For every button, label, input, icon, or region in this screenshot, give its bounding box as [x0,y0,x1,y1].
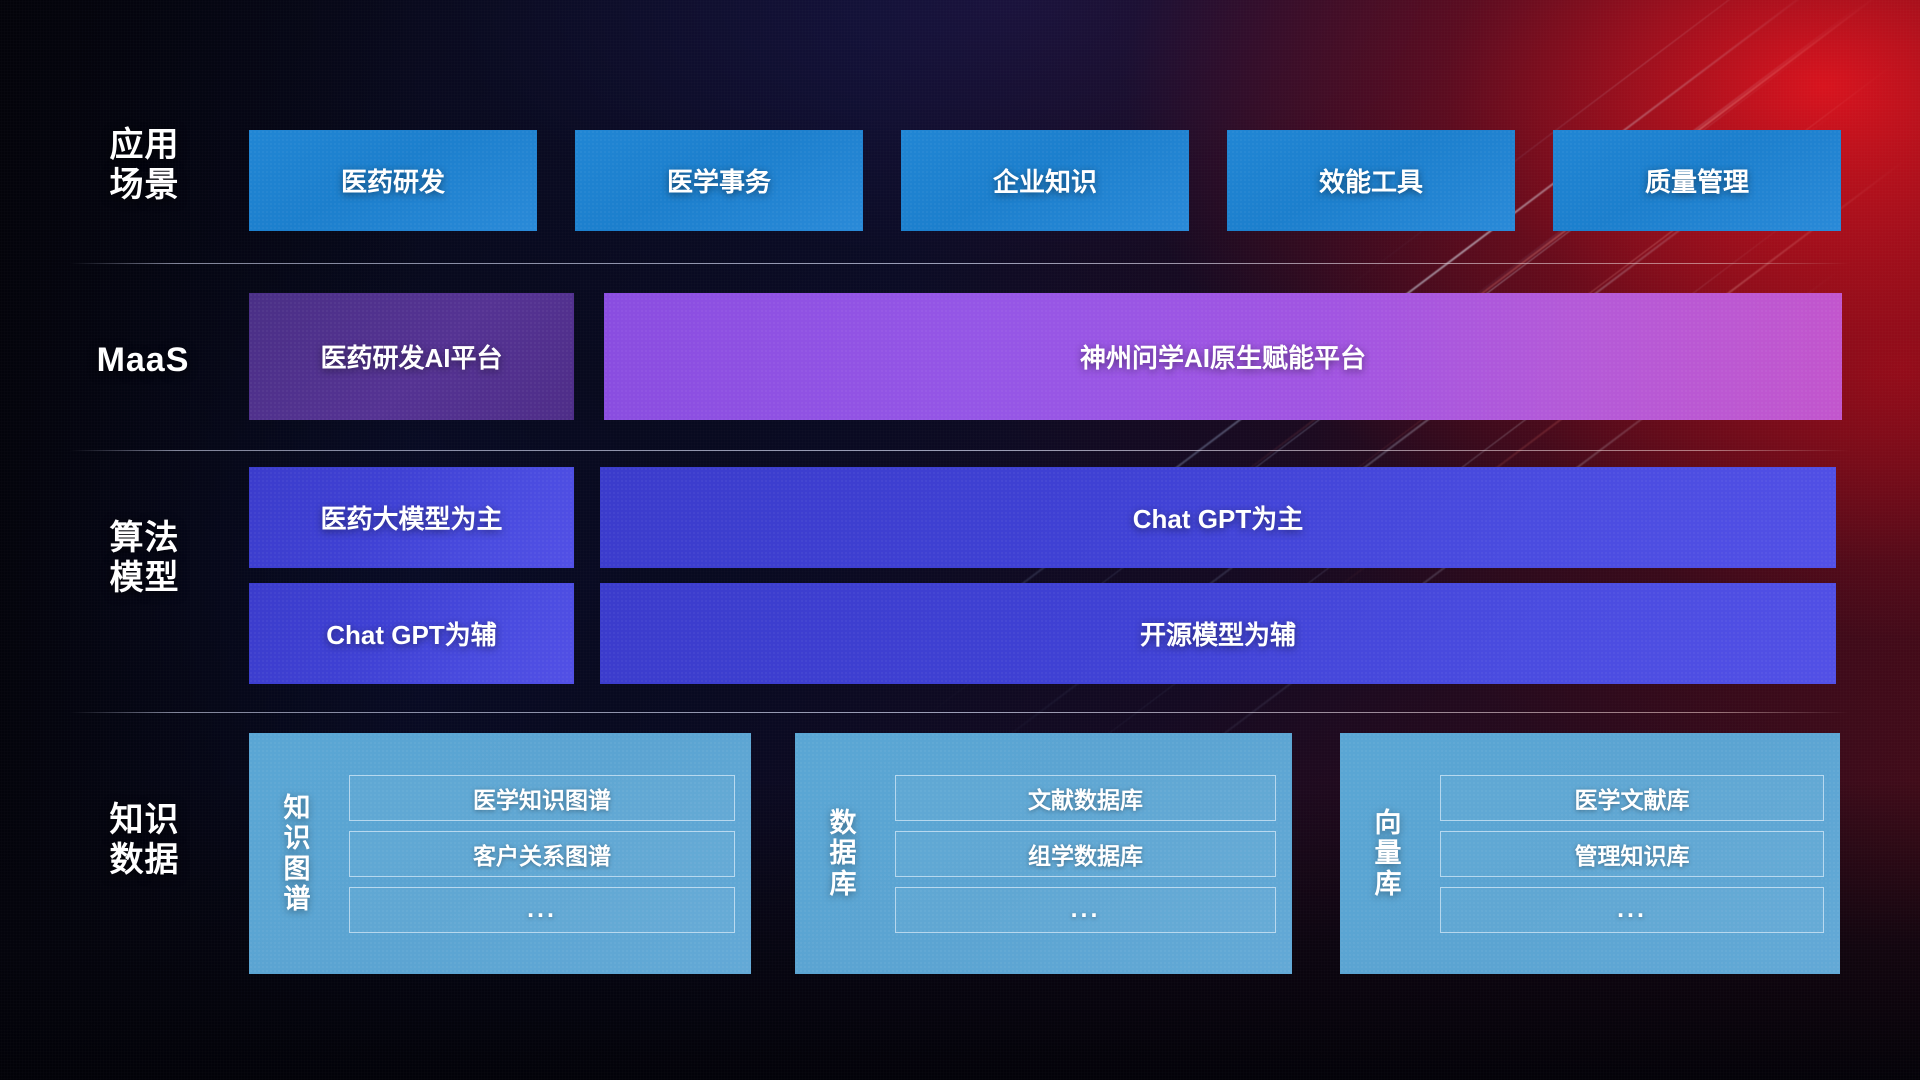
divider-algorithm-knowledge [70,712,1850,713]
row-label-application: 应用 场景 [82,125,207,205]
app-box-label: 效能工具 [1319,162,1423,199]
knowledge-group-title: 向 量 库 [1340,733,1436,974]
knowledge-item-more[interactable]: ... [349,887,735,933]
knowledge-group-database[interactable]: 数 据 库 文献数据库 组学数据库 ... [795,733,1292,974]
knowledge-item[interactable]: 医学知识图谱 [349,775,735,821]
app-box-label: 质量管理 [1645,162,1749,199]
row-label-maas: MaaS [78,340,208,380]
row-label-algorithm: 算法 模型 [82,518,207,598]
app-box-label: 企业知识 [993,162,1097,199]
algo-box-open-source-secondary[interactable]: 开源模型为辅 [600,583,1836,684]
divider-maas-algorithm [70,450,1850,451]
knowledge-item-more[interactable]: ... [1440,887,1824,933]
app-box-label: 医学事务 [667,162,771,199]
app-box-label: 医药研发 [341,162,445,199]
maas-box-label: 神州问学AI原生赋能平台 [1080,338,1366,375]
app-box-quality-management[interactable]: 质量管理 [1553,130,1841,231]
algo-box-label: 开源模型为辅 [1140,615,1296,652]
app-box-enterprise-knowledge[interactable]: 企业知识 [901,130,1189,231]
knowledge-item[interactable]: 文献数据库 [895,775,1276,821]
row-label-knowledge: 知识 数据 [82,800,207,880]
knowledge-group-items: 医学文献库 管理知识库 ... [1436,733,1840,974]
knowledge-item[interactable]: 组学数据库 [895,831,1276,877]
knowledge-group-title: 知 识 图 谱 [249,733,345,974]
knowledge-item-more[interactable]: ... [895,887,1276,933]
knowledge-group-vector-store[interactable]: 向 量 库 医学文献库 管理知识库 ... [1340,733,1840,974]
maas-box-shenzhou-wenxue-platform[interactable]: 神州问学AI原生赋能平台 [604,293,1842,420]
algo-box-pharma-large-model-primary[interactable]: 医药大模型为主 [249,467,574,568]
knowledge-item[interactable]: 医学文献库 [1440,775,1824,821]
knowledge-item[interactable]: 管理知识库 [1440,831,1824,877]
algo-box-label: Chat GPT为主 [1133,499,1303,536]
divider-application-maas [70,263,1850,264]
knowledge-group-items: 医学知识图谱 客户关系图谱 ... [345,733,751,974]
app-box-pharma-rd[interactable]: 医药研发 [249,130,537,231]
knowledge-group-knowledge-graph[interactable]: 知 识 图 谱 医学知识图谱 客户关系图谱 ... [249,733,751,974]
algo-box-label: 医药大模型为主 [320,499,502,536]
app-box-efficiency-tools[interactable]: 效能工具 [1227,130,1515,231]
algo-box-chatgpt-primary[interactable]: Chat GPT为主 [600,467,1836,568]
algo-box-label: Chat GPT为辅 [326,615,496,652]
knowledge-group-items: 文献数据库 组学数据库 ... [891,733,1292,974]
knowledge-item[interactable]: 客户关系图谱 [349,831,735,877]
knowledge-group-title: 数 据 库 [795,733,891,974]
algo-box-chatgpt-secondary[interactable]: Chat GPT为辅 [249,583,574,684]
app-box-medical-affairs[interactable]: 医学事务 [575,130,863,231]
maas-box-pharma-ai-platform[interactable]: 医药研发AI平台 [249,293,574,420]
maas-box-label: 医药研发AI平台 [320,338,502,375]
